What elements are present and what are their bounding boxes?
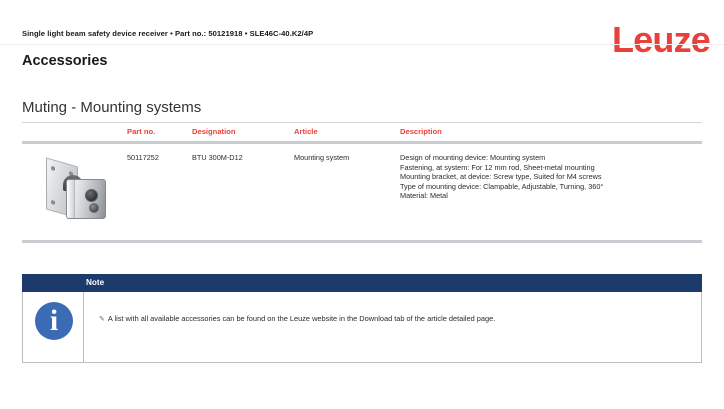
note-title: Note [86,278,104,287]
accessories-table: Part no. Designation Article Description [22,122,702,243]
description-line: Type of mounting device: Clampable, Adju… [400,182,603,192]
accessories-datasheet-page: Single light beam safety device receiver… [0,0,724,409]
section-title: Muting - Mounting systems [22,99,201,116]
description-line: Mounting bracket, at device: Screw type,… [400,172,603,182]
note-text: A list with all available accessories ca… [108,314,495,323]
description-line: Material: Metal [400,191,603,201]
column-header-article: Article [294,127,318,136]
cell-part-no: 50117252 [127,153,159,163]
cell-designation: BTU 300M-D12 [192,153,243,163]
pencil-icon: ✎ [99,315,105,323]
plate-hole-icon [51,166,55,171]
note-icon-cell: i [23,292,84,362]
note-header-bar: Note [22,274,702,292]
info-icon: i [35,302,73,340]
cell-description: Design of mounting device: Mounting syst… [400,153,603,201]
page-title: Accessories [22,53,107,69]
plate-hole-icon [51,200,55,205]
breadcrumb: Single light beam safety device receiver… [22,29,313,38]
leuze-logo: Leuze [612,22,710,58]
column-header-part-no: Part no. [127,127,155,136]
note-text-row: ✎A list with all available accessories c… [99,314,495,323]
clamp-block-edge [67,180,75,218]
product-thumbnail-image [30,152,116,230]
clamp-screw-icon [89,203,99,213]
clamp-bore-icon [85,189,98,202]
description-line: Design of mounting device: Mounting syst… [400,153,603,163]
note-panel: Note i ✎A list with all available access… [22,274,702,363]
column-header-designation: Designation [192,127,235,136]
description-line: Fastening, at system: For 12 mm rod, She… [400,163,603,173]
table-row: 50117252 BTU 300M-D12 Mounting system De… [22,144,702,243]
document-header: Single light beam safety device receiver… [0,0,724,45]
table-header-row: Part no. Designation Article Description [22,122,702,144]
column-header-description: Description [400,127,442,136]
header-divider [0,44,724,45]
note-body: i ✎A list with all available accessories… [22,292,702,363]
clamp-block-shape [66,179,106,219]
cell-article: Mounting system [294,153,349,163]
